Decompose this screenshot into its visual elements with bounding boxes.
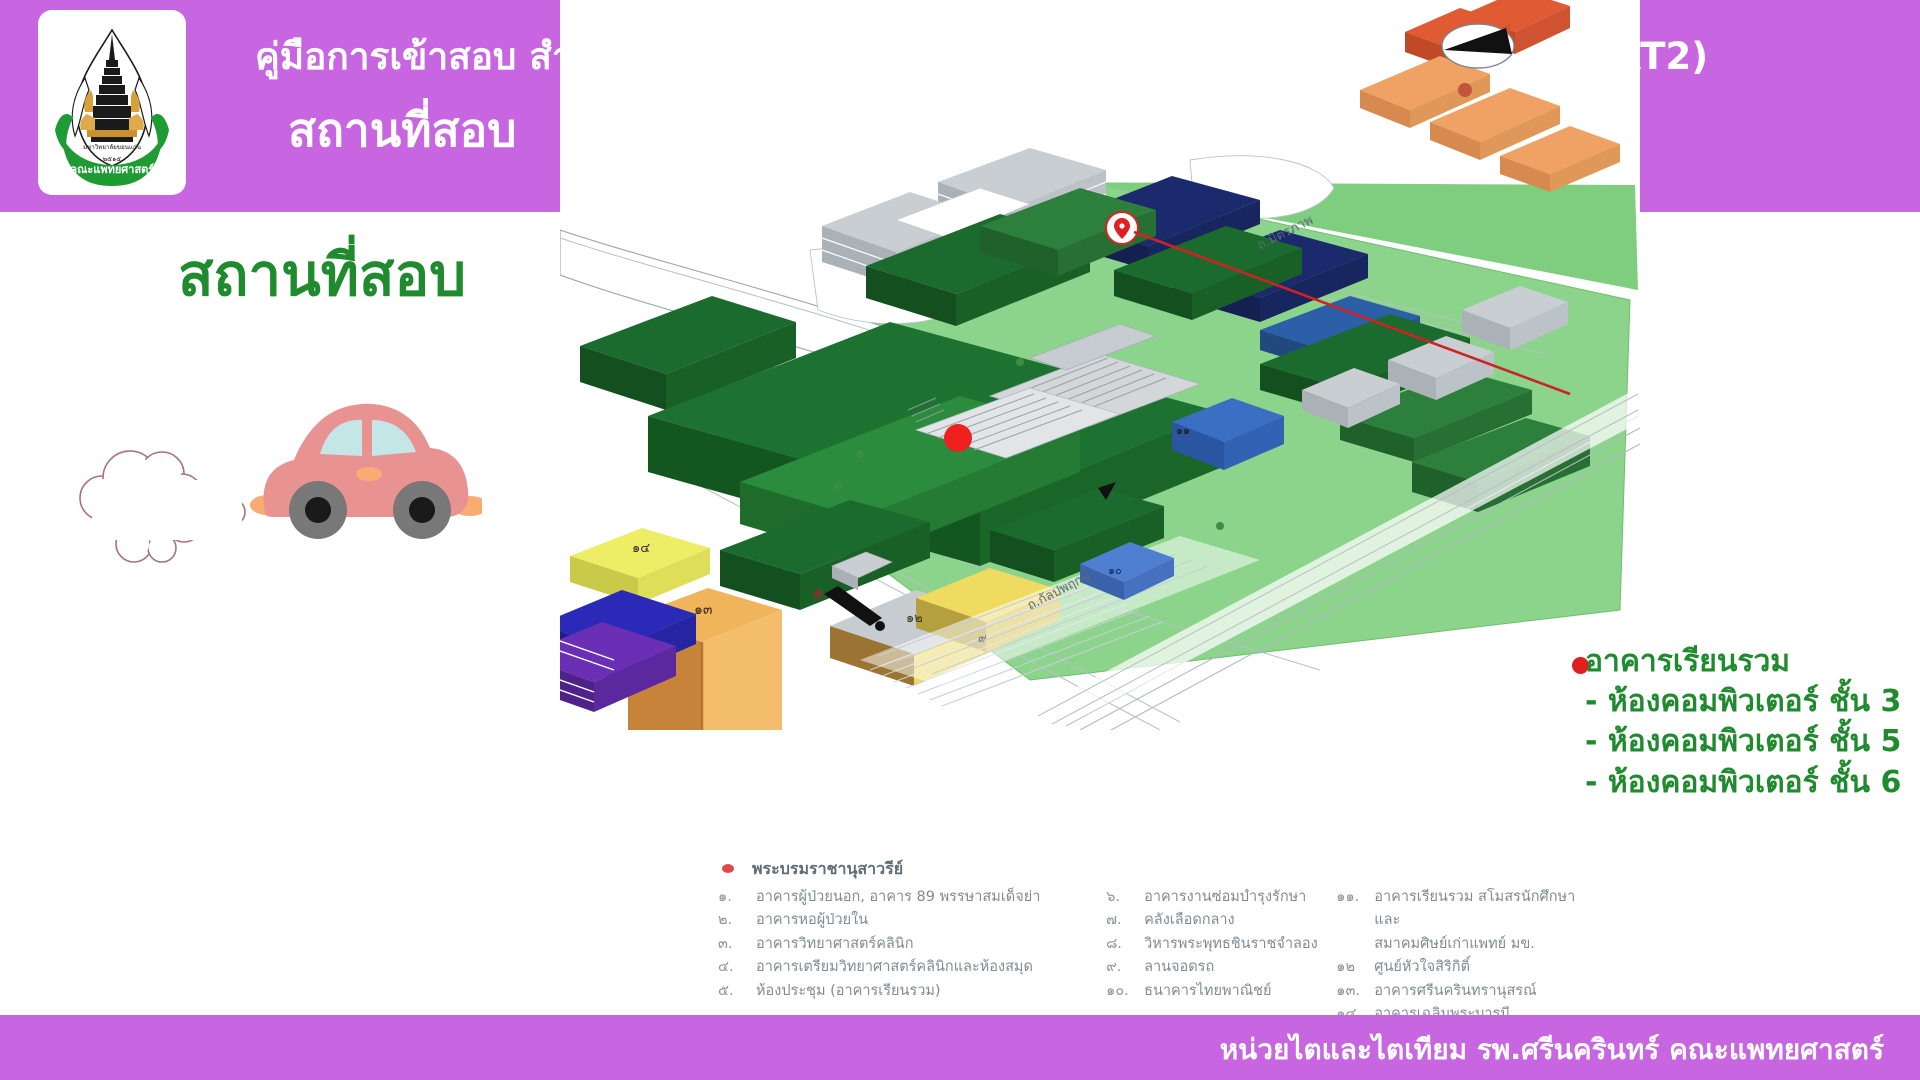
legend-item-label: คลังเลือดกลาง — [1144, 909, 1336, 932]
legend-item: ๔. อาคารเตรียมวิทยาศาสตร์คลินิกและห้องสม… — [718, 956, 1106, 979]
annotation-line-1: อาคารเรียนรวม — [1585, 642, 1915, 682]
legend-item: ๗. คลังเลือดกลาง — [1106, 909, 1336, 932]
legend-item-number: ๑๓. — [1336, 980, 1362, 1003]
legend-item-label: อาคารหอผู้ป่วยใน — [756, 909, 1106, 932]
annotation-exam-room-list: อาคารเรียนรวม - ห้องคอมพิวเตอร์ ชั้น 3 -… — [1585, 642, 1915, 803]
annotation-line-4: - ห้องคอมพิวเตอร์ ชั้น 6 — [1585, 763, 1915, 803]
legend-item: ๑๒ ศูนย์หัวใจสิริกิติ์ — [1336, 956, 1598, 979]
legend-item-number: ๙. — [1106, 956, 1132, 979]
legend-item-sublabel: สมาคมศิษย์เก่าแพทย์ มข. — [1336, 933, 1598, 956]
north-arrow — [1442, 24, 1514, 68]
legend-item-number: ๑๒ — [1336, 956, 1362, 979]
legend-item-number: ๑. — [718, 886, 744, 909]
legend-item: ๑. อาคารผู้ป่วยนอก, อาคาร 89 พรรษาสมเด็จ… — [718, 886, 1106, 909]
srinagarind-hospital-campus-map: ๑๔ ๑๓ — [560, 0, 1640, 790]
legend-title-row: พระบรมราชานุสาวรีย์ — [718, 856, 1598, 882]
legend-item: ๕. ห้องประชุม (อาคารเรียนรวม) — [718, 980, 1106, 1003]
legend-item-label: อาคารศรีนครินทรานุสรณ์ — [1374, 980, 1598, 1003]
svg-text:คณะแพทยศาสตร์: คณะแพทยศาสตร์ — [70, 163, 155, 176]
legend-item: ๑๓. อาคารศรีนครินทรานุสรณ์ — [1336, 980, 1598, 1003]
svg-text:๑๑: ๑๑ — [1176, 424, 1190, 437]
legend-item: ๒. อาคารหอผู้ป่วยใน — [718, 909, 1106, 932]
map-location-pin-marker — [1106, 212, 1138, 244]
legend-item-number: ๘. — [1106, 933, 1132, 956]
footer-text: หน่วยไตและไตเทียม รพ.ศรีนครินทร์ คณะแพทย… — [1220, 1028, 1884, 1072]
legend-item-number: ๔. — [718, 956, 744, 979]
legend-item-label: ลานจอดรถ — [1144, 956, 1336, 979]
legend-item-number: ๒. — [718, 909, 744, 932]
map-monument-marker — [944, 424, 972, 452]
svg-text:๑๔: ๑๔ — [632, 541, 650, 556]
legend-item-label: ธนาคารไทยพาณิชย์ — [1144, 980, 1336, 1003]
logo-emblem-icon: มหาวิทยาลัยขอนแก่น ๒๕๑๕ คณะแพทยศาสตร์ — [47, 18, 177, 188]
legend-item-label: อาคารเรียนรวม สโมสรนักศึกษาและ — [1374, 886, 1598, 933]
legend-item-number: ๕. — [718, 980, 744, 1003]
legend-item: ๖. อาคารงานซ่อมบำรุงรักษา — [1106, 886, 1336, 909]
svg-text:๑๐: ๑๐ — [1108, 564, 1122, 577]
svg-text:มหาวิทยาลัยขอนแก่น: มหาวิทยาลัยขอนแก่น — [83, 144, 142, 151]
legend-title: พระบรมราชานุสาวรีย์ — [752, 856, 903, 882]
cartoon-car-illustration — [62, 370, 482, 580]
legend-item-label: อาคารผู้ป่วยนอก, อาคาร 89 พรรษาสมเด็จย่า — [756, 886, 1106, 909]
svg-text:๑๓: ๑๓ — [694, 602, 712, 618]
car-door-handle — [356, 467, 382, 481]
campus-map-illustration: ๑๔ ๑๓ — [560, 0, 1640, 790]
legend-item: ๑๐. ธนาคารไทยพาณิชย์ — [1106, 980, 1336, 1003]
legend-item-number: ๗. — [1106, 909, 1132, 932]
legend-item: ๘. วิหารพระพุทธชินราชจำลอง — [1106, 933, 1336, 956]
legend-item: ๙. ลานจอดรถ — [1106, 956, 1336, 979]
legend-item-label: อาคารวิทยาศาสตร์คลินิก — [756, 933, 1106, 956]
footer-bar: หน่วยไตและไตเทียม รพ.ศรีนครินทร์ คณะแพทย… — [0, 1015, 1920, 1080]
legend-item-number: ๑๑. — [1336, 886, 1362, 933]
section-heading-exam-venue: สถานที่สอบ — [178, 228, 466, 321]
annotation-line-2: - ห้องคอมพิวเตอร์ ชั้น 3 — [1585, 682, 1915, 722]
legend-item: ๑๑. อาคารเรียนรวม สโมสรนักศึกษาและ — [1336, 886, 1598, 933]
legend-column-2: ๖. อาคารงานซ่อมบำรุงรักษา ๗. คลังเลือดกล… — [1106, 886, 1336, 1027]
legend-item-label: ห้องประชุม (อาคารเรียนรวม) — [756, 980, 1106, 1003]
legend-item-label: อาคารงานซ่อมบำรุงรักษา — [1144, 886, 1336, 909]
legend-item-number: ๓. — [718, 933, 744, 956]
monument-dot-icon — [722, 864, 734, 873]
car-icon — [62, 370, 482, 580]
legend-item-label: ศูนย์หัวใจสิริกิติ์ — [1374, 956, 1598, 979]
legend-column-1: ๑. อาคารผู้ป่วยนอก, อาคาร 89 พรรษาสมเด็จ… — [718, 886, 1106, 1027]
legend-column-3: ๑๑. อาคารเรียนรวม สโมสรนักศึกษาและ สมาคม… — [1336, 886, 1598, 1027]
slide-root: มหาวิทยาลัยขอนแก่น ๒๕๑๕ คณะแพทยศาสตร์ คู… — [0, 0, 1920, 1080]
legend-item-label: อาคารเตรียมวิทยาศาสตร์คลินิกและห้องสมุด — [756, 956, 1106, 979]
annotation-line-3: - ห้องคอมพิวเตอร์ ชั้น 5 — [1585, 722, 1915, 762]
kku-faculty-of-medicine-logo: มหาวิทยาลัยขอนแก่น ๒๕๑๕ คณะแพทยศาสตร์ — [38, 10, 186, 195]
legend-item-label: วิหารพระพุทธชินราชจำลอง — [1144, 933, 1336, 956]
svg-text:๑๒: ๑๒ — [906, 611, 923, 626]
legend-item-number: ๖. — [1106, 886, 1132, 909]
legend-item: ๓. อาคารวิทยาศาสตร์คลินิก — [718, 933, 1106, 956]
svg-text:๙: ๙ — [978, 631, 987, 645]
page-subtitle: สถานที่สอบ — [288, 104, 516, 157]
legend-item-number: ๑๐. — [1106, 980, 1132, 1003]
map-legend: พระบรมราชานุสาวรีย์ ๑. อาคารผู้ป่วยนอก, … — [718, 856, 1598, 1027]
svg-text:๒๕๑๕: ๒๕๑๕ — [103, 155, 121, 163]
